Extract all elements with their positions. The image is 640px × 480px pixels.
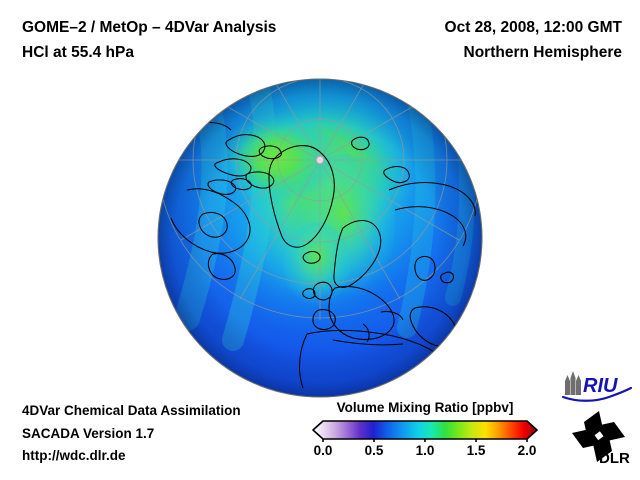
header-right: Oct 28, 2008, 12:00 GMT Northern Hemisph… (445, 15, 622, 65)
colorbar-tick-label: 0.5 (365, 443, 384, 458)
globe-field (157, 78, 483, 398)
visualization-canvas: GOME–2 / MetOp – 4DVar Analysis HCl at 5… (0, 0, 640, 480)
title-line-2: HCl at 55.4 hPa (22, 40, 276, 65)
globe-svg (157, 78, 483, 398)
riu-tower-icon (565, 371, 581, 395)
dlr-wordmark: DLR (599, 450, 630, 467)
colorbar-title: Volume Mixing Ratio [ppbv] (309, 400, 541, 415)
coast-chukotka (453, 116, 479, 126)
footer-text-block: 4DVar Chemical Data Assimilation SACADA … (22, 400, 241, 468)
riu-wordmark: RIU (583, 375, 618, 397)
colorbar-tick-label: 1.5 (467, 443, 486, 458)
hemisphere-line: Northern Hemisphere (445, 40, 622, 65)
footer-line-1: 4DVar Chemical Data Assimilation (22, 400, 241, 423)
coast-africa-east (447, 364, 454, 394)
north-pole-marker (316, 156, 323, 163)
footer-line-2: SACADA Version 1.7 (22, 423, 241, 446)
colorbar-svg (305, 418, 545, 442)
globe-plot (157, 78, 483, 398)
colorbar-tick-label: 1.0 (416, 443, 435, 458)
dlr-logo: DLR (566, 409, 634, 467)
timestamp-line: Oct 28, 2008, 12:00 GMT (445, 15, 622, 40)
colorbar-gradient-bar (313, 421, 537, 439)
colorbar-tick-label: 0.0 (314, 443, 333, 458)
title-line-1: GOME–2 / MetOp – 4DVar Analysis (22, 15, 276, 40)
riu-logo: RIU (561, 369, 633, 403)
colorbar-block: Volume Mixing Ratio [ppbv] 0.00.51.01.52… (305, 400, 545, 461)
colorbar-tick-label: 2.0 (518, 443, 537, 458)
footer-url: http://wdc.dlr.de (22, 445, 241, 468)
header-left: GOME–2 / MetOp – 4DVar Analysis HCl at 5… (22, 15, 276, 65)
colorbar-tick-labels: 0.00.51.01.52.0 (305, 443, 545, 461)
